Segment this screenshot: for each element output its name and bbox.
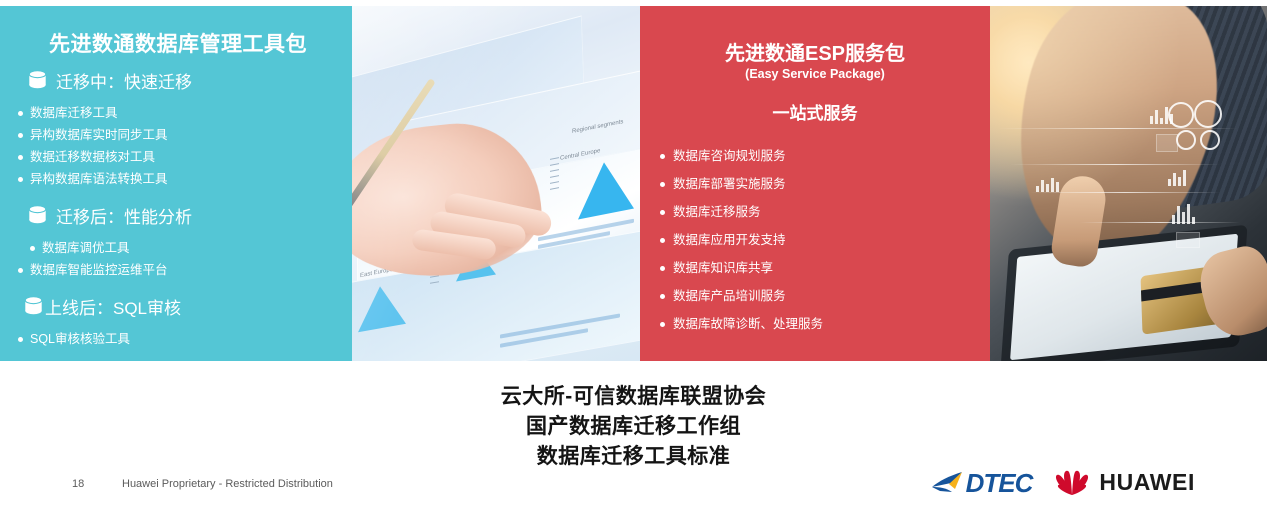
list-item: SQL审核核验工具 <box>18 332 342 347</box>
list-item: 数据迁移数据核对工具 <box>18 150 182 165</box>
bullet-dot-icon <box>30 246 35 251</box>
left-section-heading-3-label: 上线后：SQL审核 <box>45 294 181 319</box>
huawei-logo: HUAWEI <box>1054 469 1195 496</box>
list-item-label: 数据库迁移服务 <box>673 205 761 220</box>
slide-canvas: 先进数通数据库管理工具包 迁移中：快速迁移 数据库迁移工具 <box>0 0 1267 510</box>
caption-line-2: 国产数据库迁移工作组 <box>0 412 1267 442</box>
hud-bar-chart-icon <box>1168 170 1186 186</box>
list-item: 数据库知识库共享 <box>660 261 830 276</box>
list-item-label: 数据库故障诊断、处理服务 <box>673 317 823 332</box>
hud-line <box>1030 192 1220 193</box>
list-item-label: 数据库调优工具 <box>42 241 130 256</box>
left-bullet-grid-1: 数据库迁移工具 异构数据库实时同步工具 数据迁移数据核对工具 异构数据库语法转换… <box>18 99 342 187</box>
bullet-dot-icon <box>660 294 665 299</box>
database-icon <box>28 70 47 91</box>
bullet-dot-icon <box>18 268 23 273</box>
hud-ring-icon <box>1194 100 1222 128</box>
list-item: 异构数据库实时同步工具 <box>18 128 193 143</box>
photo-area-peak <box>358 282 406 332</box>
hud-ring-icon <box>1176 130 1196 150</box>
bullet-dot-icon <box>660 210 665 215</box>
list-item-label: 数据库产品培训服务 <box>673 289 786 304</box>
bullet-dot-icon <box>660 238 665 243</box>
list-item: 数据库应用开发支持 <box>660 233 810 248</box>
bullet-dot-icon <box>660 322 665 327</box>
dtec-arrow-icon <box>931 470 965 496</box>
hud-ring-icon <box>1200 130 1220 150</box>
bullet-dot-icon <box>18 111 23 116</box>
hud-bar-chart-icon <box>1172 204 1195 224</box>
hud-line <box>1010 164 1220 165</box>
hud-bar-chart-icon <box>1150 106 1173 124</box>
database-icon <box>28 205 47 226</box>
hud-line <box>1080 222 1240 223</box>
list-item-label: SQL审核核验工具 <box>30 332 130 347</box>
bullet-dot-icon <box>18 337 23 342</box>
list-item-label: 异构数据库实时同步工具 <box>30 128 168 143</box>
list-item: 数据库故障诊断、处理服务 <box>660 317 976 332</box>
confidentiality-notice: Huawei Proprietary - Restricted Distribu… <box>122 478 333 490</box>
left-bullet-grid-3: SQL审核核验工具 <box>18 325 342 347</box>
caption-block: 云大所-可信数据库联盟协会 国产数据库迁移工作组 数据库迁移工具标准 <box>0 382 1267 471</box>
database-icon <box>24 296 43 317</box>
huawei-flower-icon <box>1054 469 1090 496</box>
list-item: 异构数据库语法转换工具 <box>18 172 193 187</box>
huawei-wordmark: HUAWEI <box>1099 471 1195 494</box>
left-panel-title: 先进数通数据库管理工具包 <box>14 28 342 58</box>
left-section-heading-2-label: 迁移后：性能分析 <box>56 203 192 228</box>
hud-card <box>1176 232 1200 248</box>
list-item: 数据库产品培训服务 <box>660 289 810 304</box>
logo-group: DTEC HUAWEI <box>931 469 1195 496</box>
right-panel-title: 先进数通ESP服务包 <box>654 37 976 66</box>
list-item: 数据库部署实施服务 <box>660 177 810 192</box>
hud-bar-chart-icon <box>1036 178 1059 192</box>
list-item-label: 数据库智能监控运维平台 <box>30 263 168 278</box>
list-item: 数据库迁移工具 <box>18 106 182 121</box>
dtec-wordmark: DTEC <box>966 470 1033 496</box>
list-item: 数据库咨询规划服务 <box>660 149 830 164</box>
right-panel-subtitle: (Easy Service Package) <box>654 67 976 81</box>
right-photo-tablet-touch <box>990 6 1267 361</box>
hud-line <box>998 128 1238 129</box>
left-section-heading-1-label: 迁移中：快速迁移 <box>56 68 192 93</box>
list-item: 数据库智能监控运维平台 <box>18 263 193 278</box>
left-section-heading-2: 迁移后：性能分析 <box>28 203 342 228</box>
list-item-label: 数据库咨询规划服务 <box>673 149 786 164</box>
list-item-label: 数据库应用开发支持 <box>673 233 786 248</box>
hud-card <box>1156 134 1178 152</box>
left-bullet-grid-2: 数据库调优工具 数据库智能监控运维平台 <box>18 234 342 278</box>
photo-axis-ticks <box>550 157 559 195</box>
photo-area-peak <box>578 157 634 220</box>
list-item: 数据库调优工具 <box>18 241 182 256</box>
list-item-label: 异构数据库语法转换工具 <box>30 172 168 187</box>
page-number: 18 <box>72 478 84 490</box>
list-item-label: 数据库部署实施服务 <box>673 177 786 192</box>
right-panel-section-heading: 一站式服务 <box>654 99 976 124</box>
bullet-dot-icon <box>660 266 665 271</box>
bullet-dot-icon <box>18 155 23 160</box>
right-red-panel: 先进数通ESP服务包 (Easy Service Package) 一站式服务 … <box>640 6 990 361</box>
list-item: 数据库迁移服务 <box>660 205 830 220</box>
dtec-logo: DTEC <box>931 470 1033 496</box>
bullet-dot-icon <box>660 154 665 159</box>
slide-footer: 18 Huawei Proprietary - Restricted Distr… <box>0 466 1267 510</box>
bullet-dot-icon <box>660 182 665 187</box>
left-teal-panel: 先进数通数据库管理工具包 迁移中：快速迁移 数据库迁移工具 <box>0 6 352 361</box>
middle-photo-hand-with-pen: Regional segments Central Europe West Eu… <box>352 6 640 361</box>
left-section-heading-1: 迁移中：快速迁移 <box>28 68 342 93</box>
bullet-dot-icon <box>18 133 23 138</box>
list-item-label: 数据迁移数据核对工具 <box>30 150 155 165</box>
left-section-heading-3: 上线后：SQL审核 <box>24 294 342 319</box>
bullet-dot-icon <box>18 177 23 182</box>
right-bullet-grid: 数据库咨询规划服务 数据库部署实施服务 数据库迁移服务 数据库应用开发支持 数据… <box>660 136 976 332</box>
list-item-label: 数据库迁移工具 <box>30 106 118 121</box>
caption-line-1: 云大所-可信数据库联盟协会 <box>0 382 1267 412</box>
banner-strip: 先进数通数据库管理工具包 迁移中：快速迁移 数据库迁移工具 <box>0 6 1267 361</box>
list-item-label: 数据库知识库共享 <box>673 261 773 276</box>
